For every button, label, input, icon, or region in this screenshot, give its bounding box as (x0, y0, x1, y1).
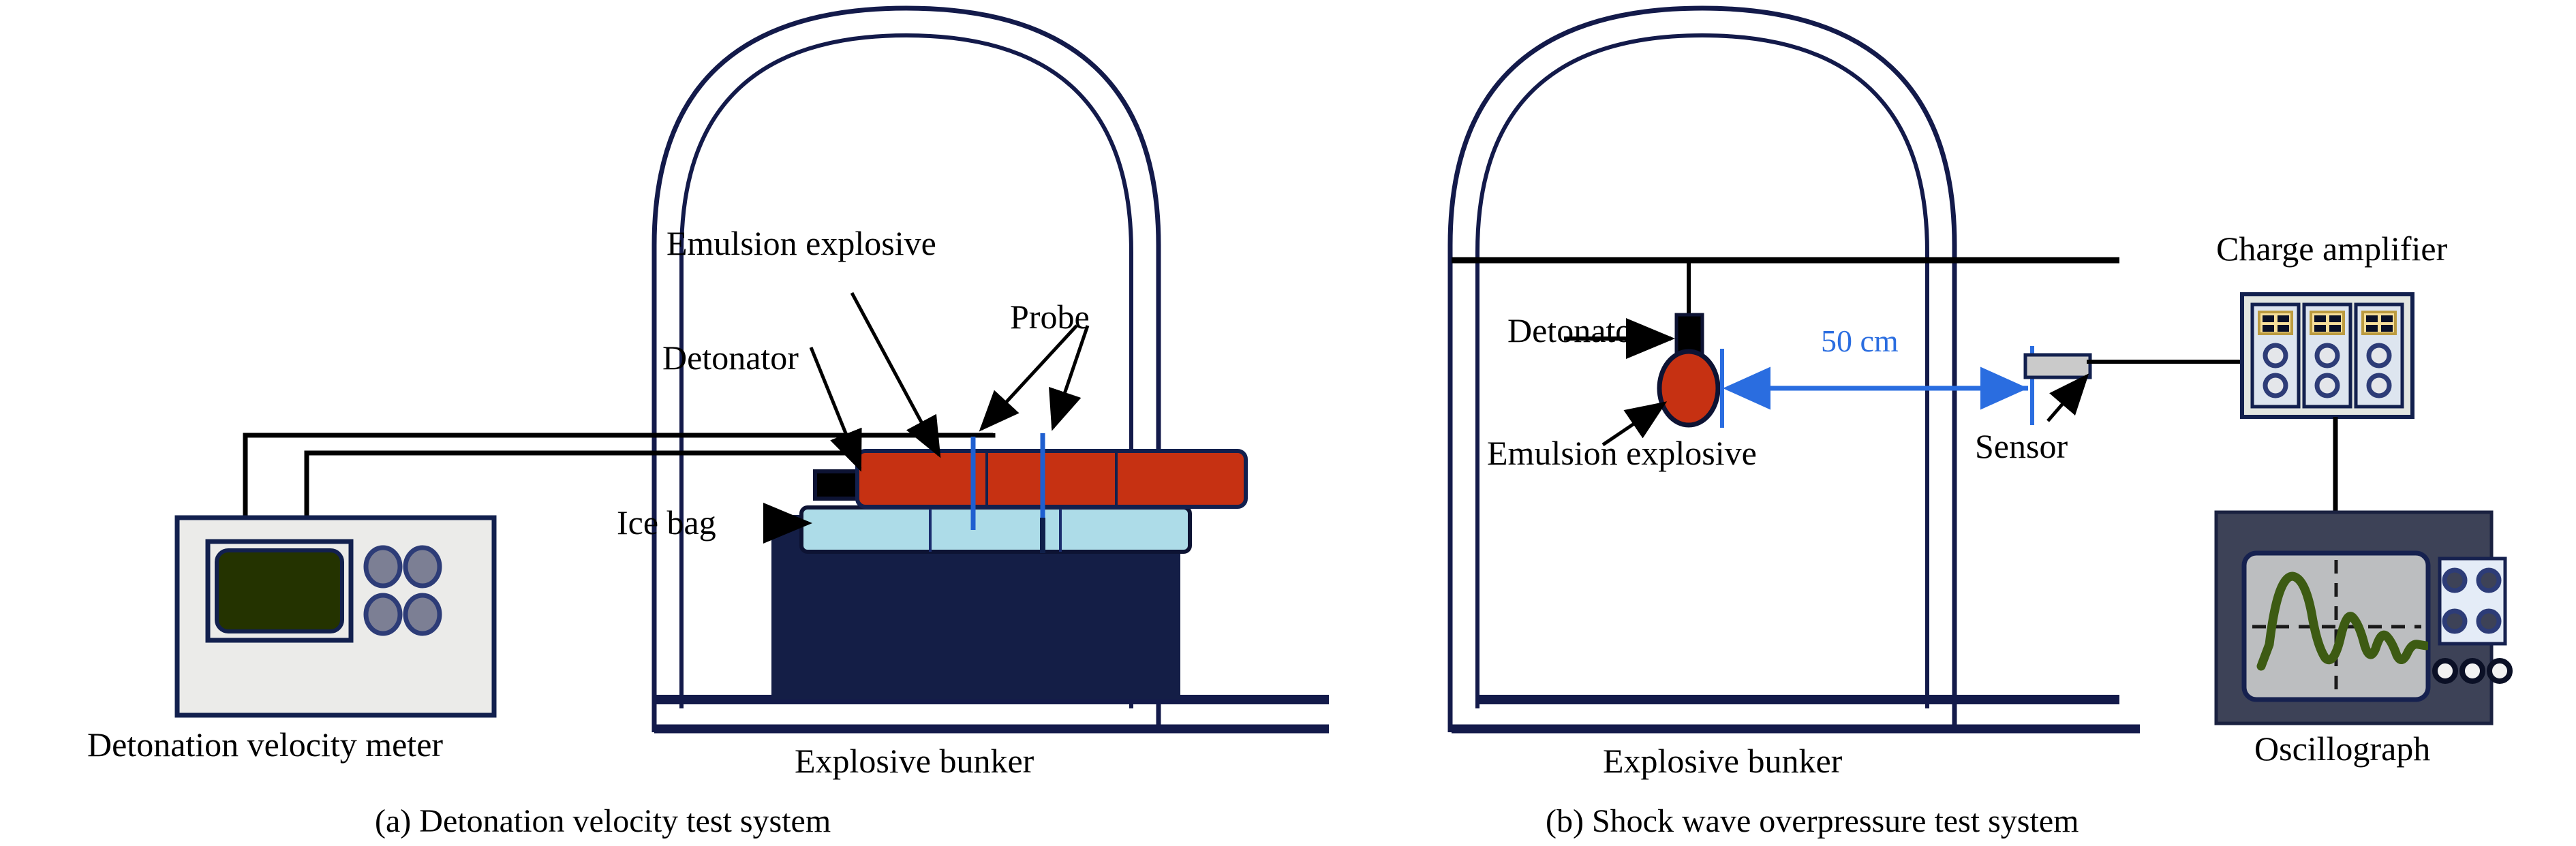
caption-panel-a: (a) Detonation velocity test system (375, 805, 831, 838)
distance-dimension (1722, 346, 2032, 428)
figure-svg (0, 0, 2576, 846)
oscillograph[interactable] (2216, 512, 2510, 723)
ice-bag (801, 507, 1190, 552)
detonation-velocity-meter[interactable] (177, 518, 494, 715)
label-detonation-velocity-meter: Detonation velocity meter (87, 727, 443, 762)
charge-amplifier[interactable] (2242, 294, 2412, 417)
meter-screen (217, 550, 342, 631)
label-sensor: Sensor (1975, 429, 2068, 463)
label-detonator-b: Detonator (1507, 313, 1644, 347)
caption-panel-b: (b) Shock wave overpressure test system (1546, 805, 2079, 838)
emulsion-explosive-charge-b (1659, 351, 1718, 425)
sensor-leader (2048, 376, 2087, 421)
figure-container: Emulsion explosive Detonator Probe Ice b… (0, 0, 2576, 846)
sensor (2025, 355, 2242, 377)
label-oscillograph: Oscillograph (2254, 732, 2430, 766)
label-emulsion-explosive-b: Emulsion explosive (1487, 436, 1757, 470)
label-explosive-bunker-b: Explosive bunker (1603, 744, 1842, 778)
label-emulsion-explosive-a: Emulsion explosive (666, 226, 936, 260)
label-probe: Probe (1010, 300, 1090, 334)
label-explosive-bunker-a: Explosive bunker (795, 744, 1034, 778)
label-ice-bag: Ice bag (617, 505, 716, 539)
emulsion-explosive-charge-a (857, 451, 1246, 507)
label-charge-amplifier: Charge amplifier (2216, 232, 2447, 266)
label-detonator-a: Detonator (662, 341, 799, 375)
label-distance-50cm: 50 cm (1821, 326, 1899, 357)
